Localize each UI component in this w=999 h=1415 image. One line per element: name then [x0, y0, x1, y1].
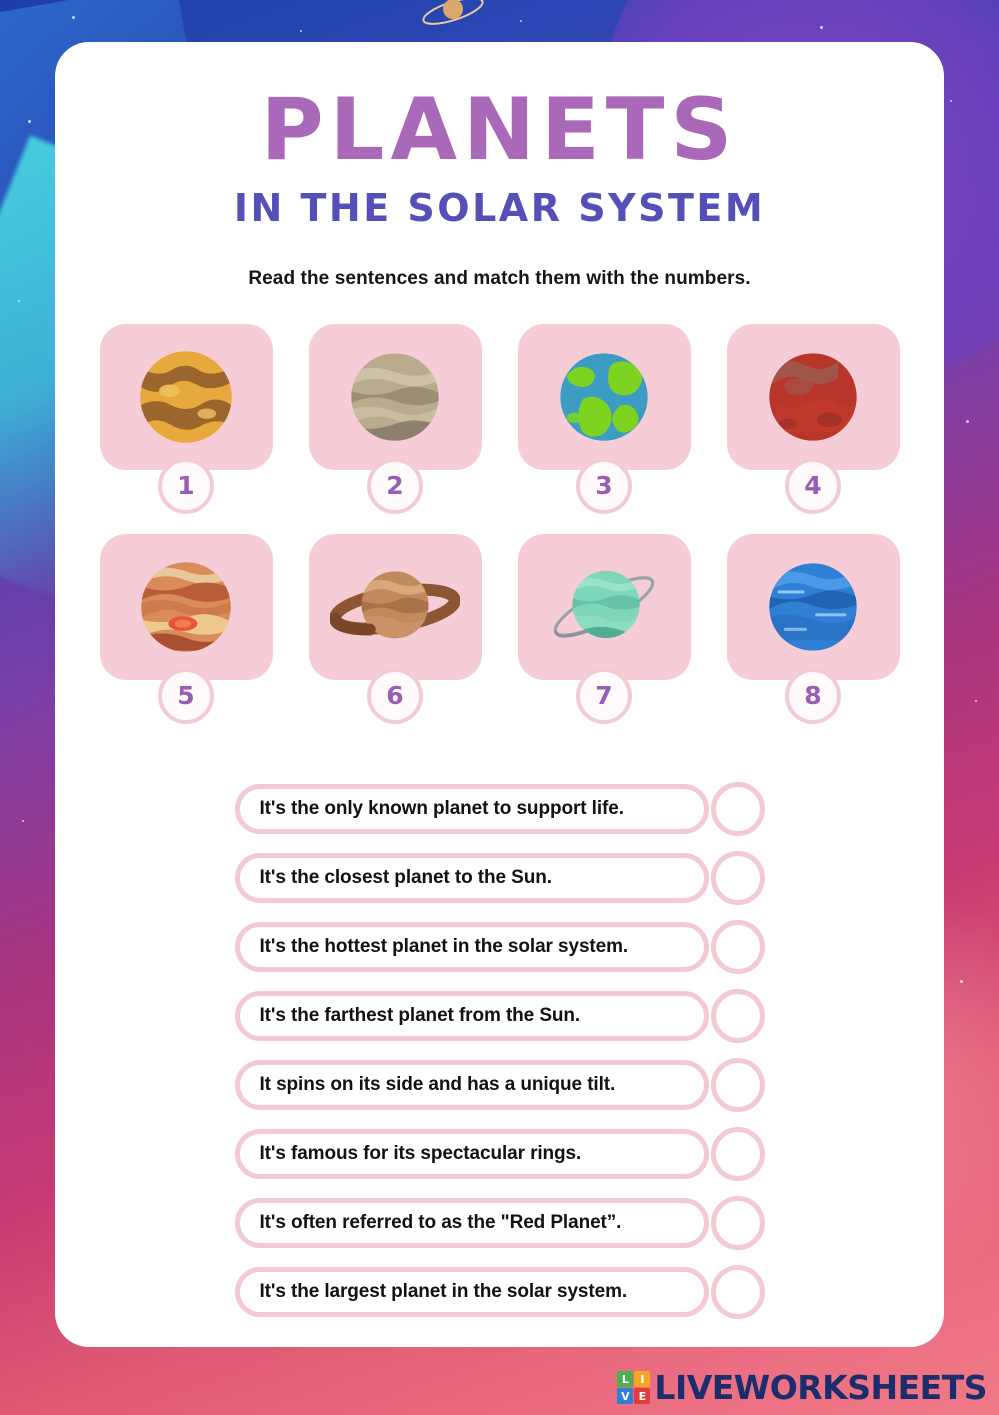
star: [975, 700, 977, 702]
planet-cell-6[interactable]: 6: [309, 534, 482, 706]
planet-number-badge: 1: [158, 458, 214, 514]
sentence-row: It's the only known planet to support li…: [235, 784, 765, 834]
planet-cell-4[interactable]: 4: [727, 324, 900, 496]
star: [300, 30, 302, 32]
sentence-pill: It's the largest planet in the solar sys…: [235, 1267, 709, 1317]
sentence-pill: It's the hottest planet in the solar sys…: [235, 922, 709, 972]
sentence-text: It's often referred to as the "Red Plane…: [260, 1212, 622, 1234]
saturn-planet-icon: [330, 553, 460, 661]
planet-tile: [727, 534, 900, 680]
star: [950, 100, 952, 102]
answer-circle[interactable]: [711, 1265, 765, 1319]
sentence-row: It spins on its side and has a unique ti…: [235, 1060, 765, 1110]
sentence-list: It's the only known planet to support li…: [235, 784, 765, 1317]
sentence-text: It's the farthest planet from the Sun.: [260, 1005, 581, 1027]
planet-tile: [727, 324, 900, 470]
planet-tile: [518, 534, 691, 680]
sentence-text: It's the closest planet to the Sun.: [260, 867, 552, 889]
liveworksheets-footer[interactable]: L I V E LIVEWORKSHEETS: [0, 1368, 999, 1407]
liveworksheets-logo-icon: L I V E: [617, 1371, 650, 1404]
planet-number-badge: 8: [785, 668, 841, 724]
planet-cell-7[interactable]: 7: [518, 534, 691, 706]
sentence-text: It's the largest planet in the solar sys…: [260, 1281, 628, 1303]
planet-number-badge: 6: [367, 668, 423, 724]
planet-cell-2[interactable]: 2: [309, 324, 482, 496]
planet-number-badge: 5: [158, 668, 214, 724]
answer-circle[interactable]: [711, 782, 765, 836]
sentence-pill: It's often referred to as the "Red Plane…: [235, 1198, 709, 1248]
page-title: PLANETS: [55, 90, 944, 172]
sentence-row: It's the hottest planet in the solar sys…: [235, 922, 765, 972]
star: [520, 20, 522, 22]
sentence-pill: It's famous for its spectacular rings.: [235, 1129, 709, 1179]
star: [18, 300, 20, 302]
sentence-text: It spins on its side and has a unique ti…: [260, 1074, 616, 1096]
jupiter-planet-icon: [134, 555, 238, 659]
planet-tile: [309, 534, 482, 680]
page-subtitle: IN THE SOLAR SYSTEM: [55, 186, 944, 230]
sentence-text: It's the hottest planet in the solar sys…: [260, 936, 629, 958]
logo-tile-l: L: [617, 1371, 633, 1387]
planet-cell-3[interactable]: 3: [518, 324, 691, 496]
answer-circle[interactable]: [711, 989, 765, 1043]
sentence-row: It's the closest planet to the Sun.: [235, 853, 765, 903]
planet-cell-5[interactable]: 5: [100, 534, 273, 706]
star: [966, 420, 969, 423]
uranus-planet-icon: [541, 554, 667, 659]
star: [22, 820, 24, 822]
mars-planet-icon: [761, 345, 865, 449]
planet-number-badge: 4: [785, 458, 841, 514]
answer-circle[interactable]: [711, 1127, 765, 1181]
logo-tile-v: V: [617, 1388, 633, 1404]
star: [28, 120, 31, 123]
sentence-pill: It spins on its side and has a unique ti…: [235, 1060, 709, 1110]
planet-tile: [100, 324, 273, 470]
star: [820, 26, 823, 29]
planet-tile: [518, 324, 691, 470]
star: [960, 980, 963, 983]
earth-planet-icon: [552, 345, 656, 449]
sentence-text: It's the only known planet to support li…: [260, 798, 624, 820]
saturn-decoration-icon: [418, 0, 488, 28]
sentence-row: It's famous for its spectacular rings.: [235, 1129, 765, 1179]
answer-circle[interactable]: [711, 1196, 765, 1250]
sentence-row: It's the largest planet in the solar sys…: [235, 1267, 765, 1317]
sentence-row: It's often referred to as the "Red Plane…: [235, 1198, 765, 1248]
logo-tile-i: I: [634, 1371, 650, 1387]
mercury-planet-icon: [343, 345, 447, 449]
planet-grid: 1 2: [100, 324, 900, 706]
planet-number-badge: 3: [576, 458, 632, 514]
star: [72, 16, 75, 19]
sentence-pill: It's the closest planet to the Sun.: [235, 853, 709, 903]
logo-tile-e: E: [634, 1388, 650, 1404]
planet-number-badge: 7: [576, 668, 632, 724]
answer-circle[interactable]: [711, 1058, 765, 1112]
neptune-planet-icon: [761, 555, 865, 659]
planet-cell-8[interactable]: 8: [727, 534, 900, 706]
planet-cell-1[interactable]: 1: [100, 324, 273, 496]
answer-circle[interactable]: [711, 851, 765, 905]
planet-number-badge: 2: [367, 458, 423, 514]
sentence-pill: It's the only known planet to support li…: [235, 784, 709, 834]
venus-planet-icon: [134, 345, 238, 449]
liveworksheets-brand-text: LIVEWORKSHEETS: [654, 1368, 987, 1407]
planet-tile: [309, 324, 482, 470]
sentence-pill: It's the farthest planet from the Sun.: [235, 991, 709, 1041]
sentence-text: It's famous for its spectacular rings.: [260, 1143, 582, 1165]
sentence-row: It's the farthest planet from the Sun.: [235, 991, 765, 1041]
planet-tile: [100, 534, 273, 680]
answer-circle[interactable]: [711, 920, 765, 974]
worksheet-card: PLANETS IN THE SOLAR SYSTEM Read the sen…: [55, 42, 944, 1347]
instruction-text: Read the sentences and match them with t…: [55, 268, 944, 290]
